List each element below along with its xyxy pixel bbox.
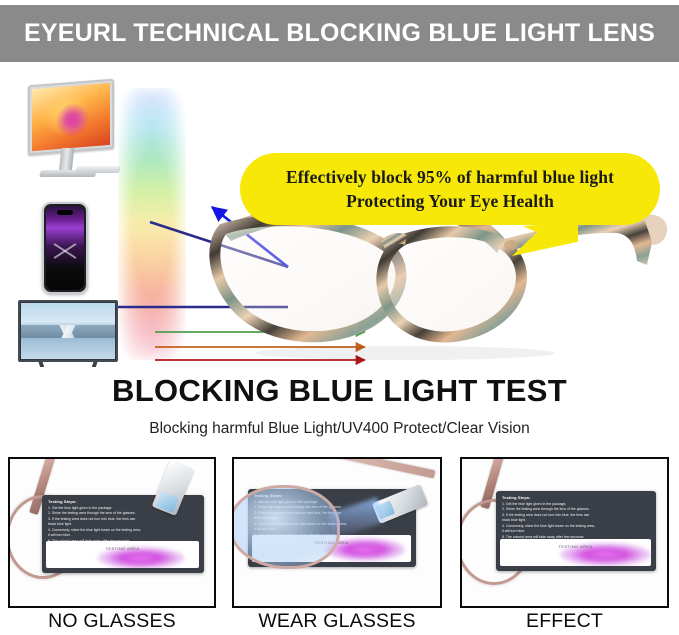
panel-wear-glasses: Testing Steps: 1. Get the blue light giv… (232, 457, 442, 608)
card-heading: Testing Steps: (502, 495, 531, 500)
caption-effect: EFFECT (460, 610, 669, 633)
page-title: EYEURL TECHNICAL BLOCKING BLUE LIGHT LEN… (24, 19, 655, 48)
panel-no-glasses: Testing Steps: 1. Get the blue light giv… (8, 457, 216, 608)
bubble-line-1: Effectively block 95% of harmful blue li… (286, 167, 614, 188)
panel-effect: Testing Steps: 1. Get the blue light giv… (460, 457, 669, 608)
flashlight-tip (156, 491, 179, 513)
caption-wear-glasses: WEAR GLASSES (232, 610, 442, 633)
glasses-shadow (255, 346, 555, 360)
testing-area-label: TESTING AREA (500, 544, 651, 549)
photo-no-glasses: Testing Steps: 1. Get the blue light giv… (10, 459, 214, 606)
caption-no-glasses: NO GLASSES (8, 610, 216, 633)
glasses-temple (307, 459, 436, 478)
glasses-lens-left (215, 221, 401, 337)
glasses-hinge (504, 240, 518, 250)
testing-area: TESTING AREA (500, 539, 651, 566)
hero-section: Effectively block 95% of harmful blue li… (0, 62, 679, 367)
test-section-header: BLOCKING BLUE LIGHT TEST Blocking harmfu… (0, 370, 679, 450)
header-bar: EYEURL TECHNICAL BLOCKING BLUE LIGHT LEN… (0, 5, 679, 62)
photo-effect: Testing Steps: 1. Get the blue light giv… (462, 459, 667, 606)
photo-wear-glasses: Testing Steps: 1. Get the blue light giv… (234, 459, 440, 606)
product-infographic: EYEURL TECHNICAL BLOCKING BLUE LIGHT LEN… (0, 0, 679, 635)
glasses-lens-right (382, 232, 522, 337)
testing-card: Testing Steps: 1. Get the blue light giv… (42, 495, 204, 573)
test-title: BLOCKING BLUE LIGHT TEST (112, 373, 567, 409)
test-subtitle: Blocking harmful Blue Light/UV400 Protec… (149, 420, 530, 438)
testing-area-label: TESTING AREA (46, 546, 199, 551)
panel-captions: NO GLASSES WEAR GLASSES EFFECT (0, 610, 679, 635)
testing-area: TESTING AREA (46, 541, 199, 568)
glasses-lens-over-card (234, 485, 340, 569)
card-heading: Testing Steps: (48, 499, 77, 504)
testing-card: Testing Steps: 1. Get the blue light giv… (496, 491, 656, 571)
test-panels: Testing Steps: 1. Get the blue light giv… (0, 457, 679, 609)
bubble-line-2: Protecting Your Eye Health (346, 191, 554, 212)
speech-bubble: Effectively block 95% of harmful blue li… (240, 153, 660, 225)
